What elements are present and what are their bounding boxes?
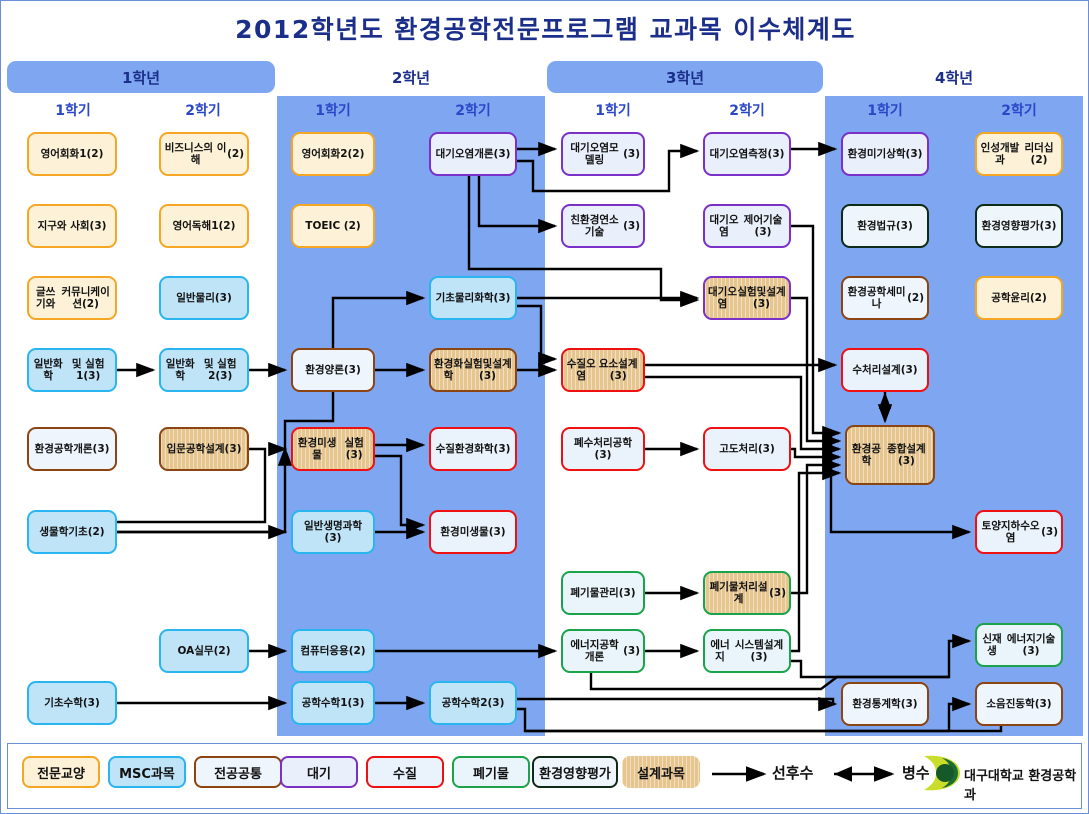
course-box[interactable]: 환경미생물실험(3) [291,427,375,471]
course-box[interactable]: 글쓰기와커뮤니케이션(2) [27,276,117,320]
course-box[interactable]: 폐수처리공학(3) [561,427,645,471]
course-box[interactable]: 친환경연소기술(3) [561,204,645,248]
course-box[interactable]: 입문공학설계(3) [159,427,249,471]
year-tab-2: 2학년 [277,61,545,93]
course-box[interactable]: 환경영향평가(3) [975,204,1063,248]
course-box[interactable]: 토양지하수오염(3) [975,510,1063,554]
semester-label-3: 1학기 [273,100,393,120]
course-box[interactable]: 환경통계학(3) [841,682,929,726]
year-tab-4: 4학년 [825,61,1083,93]
course-box[interactable]: 영어회화1(2) [27,132,117,176]
course-box[interactable]: TOEIC (2) [291,204,375,248]
course-box[interactable]: 대기오염측정(3) [703,132,791,176]
semester-label-2: 2학기 [143,100,263,120]
semester-label-5: 1학기 [553,100,673,120]
course-box[interactable]: 에너지시스템설계(3) [703,629,791,673]
university-logo: 대구대학교 환경공학과 [920,752,1085,794]
course-box[interactable]: 환경미생물(3) [429,510,517,554]
course-box[interactable]: 폐기물처리설계(3) [703,571,791,615]
year-tab-1: 1학년 [7,61,275,93]
course-box[interactable]: 환경공학세미나(2) [841,276,929,320]
course-box[interactable]: 기초물리화학(3) [429,276,517,320]
course-box[interactable]: 환경공학종합설계(3) [845,425,935,485]
semester-label-8: 2학기 [959,100,1079,120]
course-box[interactable]: 수질오염요소설계(3) [561,348,645,392]
course-box[interactable]: 대기오염개론(3) [429,132,517,176]
course-box[interactable]: 환경공학개론(3) [27,427,117,471]
legend-panel: 전문교양MSC과목전공공통대기수질폐기물환경영향평가설계과목 선후수 병수 대구… [7,743,1082,809]
course-box[interactable]: 컴퓨터응용(2) [291,629,375,673]
page-title: 2012학년도 환경공학전문프로그램 교과목 이수체계도 [1,10,1089,46]
course-box[interactable]: 일반물리(3) [159,276,249,320]
semester-label-4: 2학기 [413,100,533,120]
course-box[interactable]: 대기오염모델링(3) [561,132,645,176]
curriculum-flowchart-page: 2012학년도 환경공학전문프로그램 교과목 이수체계도 1학년2학년3학년4학… [0,0,1089,814]
course-box[interactable]: 환경미기상학(3) [841,132,929,176]
course-box[interactable]: 수처리설계(3) [841,348,929,392]
course-box[interactable]: 영어회화2(2) [291,132,375,176]
course-box[interactable]: 수질환경화학(3) [429,427,517,471]
course-box[interactable]: 일반화학및 실험1(3) [27,348,117,392]
year-tab-3: 3학년 [547,61,823,93]
course-box[interactable]: 환경법규(3) [841,204,929,248]
course-box[interactable]: 환경양론(3) [291,348,375,392]
course-box[interactable]: 비즈니스의 이해(2) [159,132,249,176]
course-box[interactable]: 일반생명과학(3) [291,510,375,554]
course-box[interactable]: 폐기물관리(3) [561,571,645,615]
university-name: 대구대학교 환경공학과 [964,765,1085,803]
course-box[interactable]: 지구와 사회(3) [27,204,117,248]
course-box[interactable]: 환경화학실험및설계(3) [429,348,517,392]
semester-label-1: 1학기 [13,100,133,120]
course-box[interactable]: 기초수학(3) [27,681,117,725]
course-box[interactable]: 인성개발과리더십(2) [975,132,1063,176]
course-box[interactable]: 에너지공학개론(3) [561,629,645,673]
course-box[interactable]: 공학수학2(3) [429,681,517,725]
course-box[interactable]: 소음진동학(3) [975,682,1063,726]
course-box[interactable]: 일반화학및 실험2(3) [159,348,249,392]
course-box[interactable]: OA실무(2) [159,629,249,673]
course-box[interactable]: 영어독해1(2) [159,204,249,248]
course-box[interactable]: 대기오염실험및설계(3) [703,276,791,320]
semester-label-7: 1학기 [825,100,945,120]
course-box[interactable]: 고도처리(3) [703,427,791,471]
logo-mark-icon [920,752,964,794]
course-box[interactable]: 신재생에너지기술(3) [975,623,1063,667]
course-box[interactable]: 공학수학1(3) [291,681,375,725]
semester-label-6: 2학기 [687,100,807,120]
course-box[interactable]: 생물학기초(2) [27,510,117,554]
legend-prereq-label: 선후수 [772,762,813,783]
course-box[interactable]: 공학윤리(2) [975,276,1063,320]
course-box[interactable]: 대기오염제어기술(3) [703,204,791,248]
